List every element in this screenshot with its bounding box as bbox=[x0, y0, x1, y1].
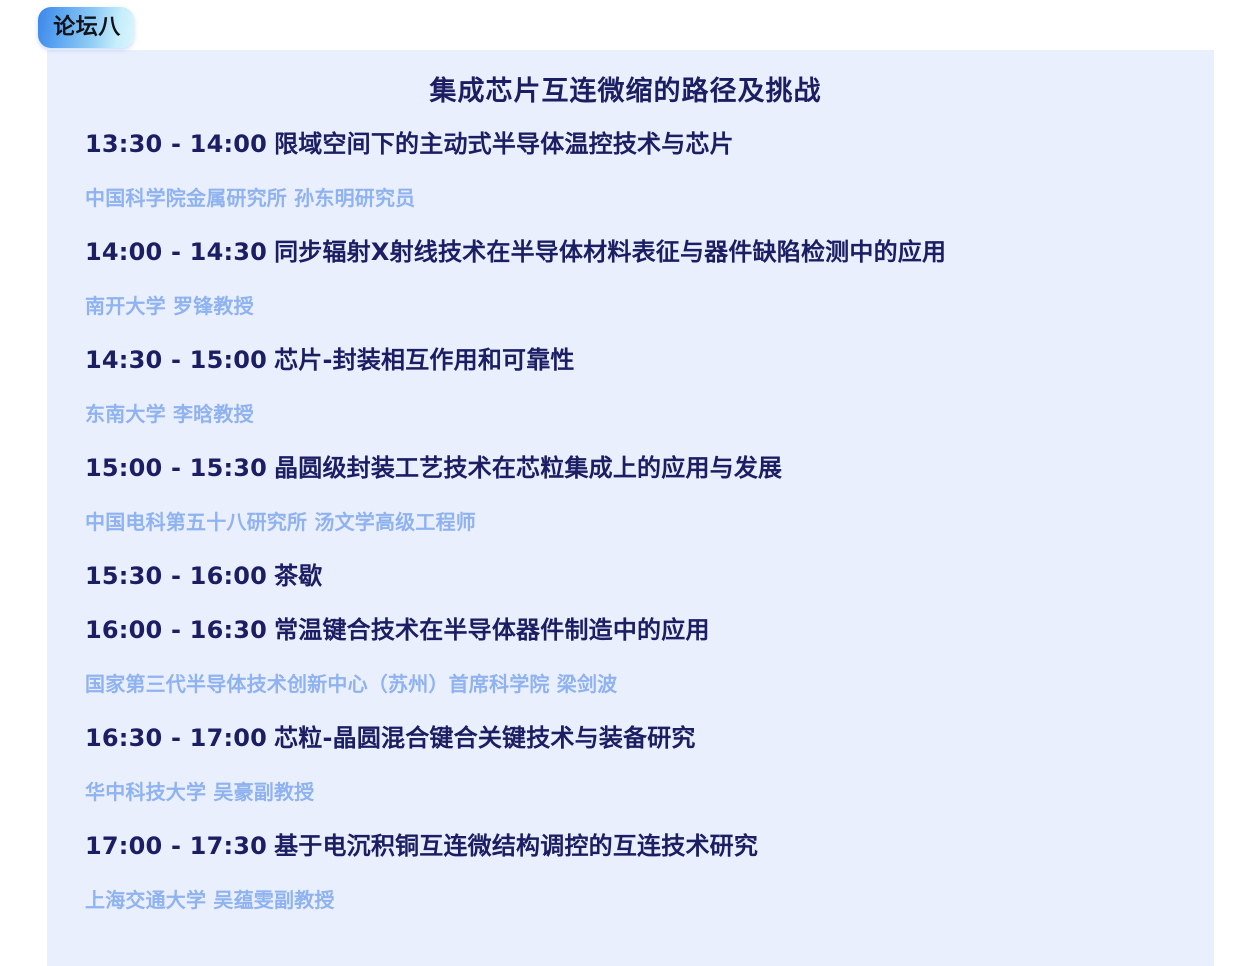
agenda-topic: 芯片-封装相互作用和可靠性 bbox=[267, 346, 575, 374]
agenda-time: 14:30 - 15:00 bbox=[85, 346, 267, 374]
agenda-list: 13:30 - 14:00限域空间下的主动式半导体温控技术与芯片中国科学院金属研… bbox=[47, 117, 1214, 927]
agenda-topic: 限域空间下的主动式半导体温控技术与芯片 bbox=[267, 130, 734, 158]
agenda-topic: 晶圆级封装工艺技术在芯粒集成上的应用与发展 bbox=[267, 454, 782, 482]
agenda-entry[interactable]: 14:00 - 14:30同步辐射X射线技术在半导体材料表征与器件缺陷检测中的应… bbox=[85, 225, 1184, 279]
agenda-time: 14:00 - 14:30 bbox=[85, 238, 267, 266]
agenda-speaker: 上海交通大学 吴蕴雯副教授 bbox=[85, 873, 1184, 927]
agenda-speaker: 国家第三代半导体技术创新中心（苏州）首席科学院 梁剑波 bbox=[85, 657, 1184, 711]
agenda-time: 15:00 - 15:30 bbox=[85, 454, 267, 482]
agenda-topic: 基于电沉积铜互连微结构调控的互连技术研究 bbox=[267, 832, 758, 860]
agenda-item: 14:00 - 14:30同步辐射X射线技术在半导体材料表征与器件缺陷检测中的应… bbox=[85, 225, 1184, 333]
agenda-item: 16:00 - 16:30常温键合技术在半导体器件制造中的应用国家第三代半导体技… bbox=[85, 603, 1184, 711]
agenda-item: 16:30 - 17:00芯粒-晶圆混合键合关键技术与装备研究华中科技大学 吴豪… bbox=[85, 711, 1184, 819]
agenda-time: 17:00 - 17:30 bbox=[85, 832, 267, 860]
agenda-time: 16:00 - 16:30 bbox=[85, 616, 267, 644]
agenda-item: 17:00 - 17:30基于电沉积铜互连微结构调控的互连技术研究上海交通大学 … bbox=[85, 819, 1184, 927]
forum-card-content: 集成芯片互连微缩的路径及挑战 13:30 - 14:00限域空间下的主动式半导体… bbox=[47, 50, 1214, 927]
agenda-speaker: 华中科技大学 吴豪副教授 bbox=[85, 765, 1184, 819]
agenda-time: 15:30 - 16:00 bbox=[85, 562, 267, 590]
agenda-entry[interactable]: 14:30 - 15:00芯片-封装相互作用和可靠性 bbox=[85, 333, 1184, 387]
agenda-entry[interactable]: 16:00 - 16:30常温键合技术在半导体器件制造中的应用 bbox=[85, 603, 1184, 657]
agenda-topic: 茶歇 bbox=[267, 562, 322, 590]
agenda-time: 16:30 - 17:00 bbox=[85, 724, 267, 752]
agenda-entry[interactable]: 16:30 - 17:00芯粒-晶圆混合键合关键技术与装备研究 bbox=[85, 711, 1184, 765]
agenda-entry[interactable]: 13:30 - 14:00限域空间下的主动式半导体温控技术与芯片 bbox=[85, 117, 1184, 171]
agenda-speaker: 中国科学院金属研究所 孙东明研究员 bbox=[85, 171, 1184, 225]
page-title: 集成芯片互连微缩的路径及挑战 bbox=[47, 72, 1214, 113]
forum-badge: 论坛八 bbox=[38, 7, 134, 48]
agenda-topic: 芯粒-晶圆混合键合关键技术与装备研究 bbox=[267, 724, 696, 752]
agenda-item: 14:30 - 15:00芯片-封装相互作用和可靠性东南大学 李晗教授 bbox=[85, 333, 1184, 441]
agenda-entry[interactable]: 15:30 - 16:00茶歇 bbox=[85, 549, 1184, 603]
agenda-speaker: 东南大学 李晗教授 bbox=[85, 387, 1184, 441]
agenda-entry[interactable]: 17:00 - 17:30基于电沉积铜互连微结构调控的互连技术研究 bbox=[85, 819, 1184, 873]
forum-badge-label: 论坛八 bbox=[51, 17, 121, 39]
agenda-topic: 常温键合技术在半导体器件制造中的应用 bbox=[267, 616, 710, 644]
agenda-speaker: 中国电科第五十八研究所 汤文学高级工程师 bbox=[85, 495, 1184, 549]
agenda-item: 15:30 - 16:00茶歇 bbox=[85, 549, 1184, 603]
agenda-item: 15:00 - 15:30晶圆级封装工艺技术在芯粒集成上的应用与发展中国电科第五… bbox=[85, 441, 1184, 549]
agenda-speaker: 南开大学 罗锋教授 bbox=[85, 279, 1184, 333]
agenda-time: 13:30 - 14:00 bbox=[85, 130, 267, 158]
forum-card: 集成芯片互连微缩的路径及挑战 13:30 - 14:00限域空间下的主动式半导体… bbox=[47, 50, 1214, 966]
agenda-item: 13:30 - 14:00限域空间下的主动式半导体温控技术与芯片中国科学院金属研… bbox=[85, 117, 1184, 225]
agenda-topic: 同步辐射X射线技术在半导体材料表征与器件缺陷检测中的应用 bbox=[267, 238, 946, 266]
agenda-entry[interactable]: 15:00 - 15:30晶圆级封装工艺技术在芯粒集成上的应用与发展 bbox=[85, 441, 1184, 495]
